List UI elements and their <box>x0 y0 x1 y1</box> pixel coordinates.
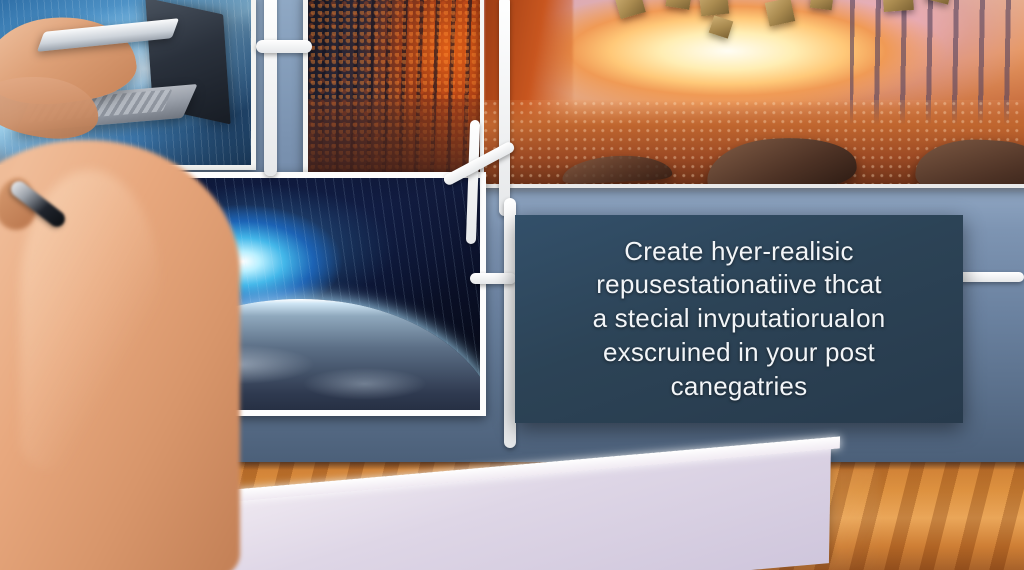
floating-cube <box>882 0 914 12</box>
frame-bar-vertical <box>264 0 277 176</box>
forest-path <box>308 99 488 173</box>
prompt-line-4: exscruined in your post <box>593 336 886 370</box>
frame-bar-horizontal <box>470 273 516 284</box>
frame-bar-vertical <box>499 0 510 216</box>
prompt-line-5: canegatries <box>593 370 886 404</box>
prompt-text: Create hyer-realisic repusestationatiive… <box>579 235 900 404</box>
picture-autumn-forest[interactable] <box>303 0 493 178</box>
screenshot-canvas: Create hyer-realisic repusestationatiive… <box>0 0 1024 570</box>
prompt-line-3: a stecial invputatioruaIon <box>593 302 886 336</box>
prompt-text-panel[interactable]: Create hyer-realisic repusestationatiive… <box>515 215 963 423</box>
picture-surreal-sunset[interactable] <box>480 0 1024 188</box>
prompt-line-1: Create hyer-realisic <box>593 235 886 269</box>
floating-cube <box>699 0 729 16</box>
prompt-line-2: repusestationatiive thcat <box>593 268 886 302</box>
frame-bar-horizontal <box>256 40 312 53</box>
